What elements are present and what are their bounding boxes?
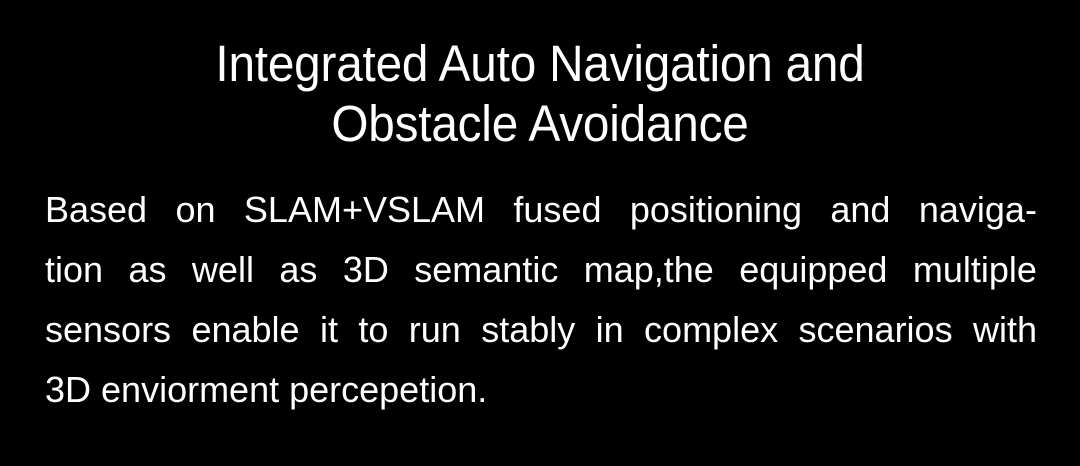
body-word: on <box>175 180 215 240</box>
body-word: Based <box>45 180 147 240</box>
body-word: enable <box>191 300 299 360</box>
body-word: scenarios <box>799 300 953 360</box>
body-word: with <box>973 300 1037 360</box>
body-word: positioning <box>630 180 802 240</box>
body-word: tion <box>45 240 103 300</box>
body-line-3: sensors enable it to run stably in compl… <box>45 300 1037 360</box>
body-line-1: Based on SLAM+VSLAM fused positioning an… <box>45 180 1037 240</box>
body-word: map,the <box>584 240 714 300</box>
title-line-1: Integrated Auto Navigation and <box>35 34 1045 94</box>
body-word: multiple <box>913 240 1037 300</box>
body-word: to <box>358 300 388 360</box>
body-word: and <box>830 180 890 240</box>
slide-canvas: Integrated Auto Navigation and Obstacle … <box>0 0 1080 466</box>
page-title: Integrated Auto Navigation and Obstacle … <box>0 34 1080 154</box>
body-word: complex <box>644 300 778 360</box>
body-word: as <box>279 240 317 300</box>
body-word: in <box>596 300 624 360</box>
body-line-4: 3D enviorment percepetion. <box>45 360 1037 420</box>
body-word: 3D <box>343 240 389 300</box>
body-word: naviga- <box>919 180 1037 240</box>
body-word: fused <box>513 180 601 240</box>
title-line-2: Obstacle Avoidance <box>35 94 1045 154</box>
body-word: as <box>128 240 166 300</box>
body-word: it <box>320 300 338 360</box>
body-word: equipped <box>739 240 887 300</box>
body-word: sensors <box>45 300 171 360</box>
body-line-2: tion as well as 3D semantic map,the equi… <box>45 240 1037 300</box>
body-word: SLAM+VSLAM <box>244 180 485 240</box>
body-word: stably <box>481 300 575 360</box>
body-word: well <box>192 240 254 300</box>
body-word: run <box>409 300 461 360</box>
body-word: semantic <box>414 240 558 300</box>
body-paragraph: Based on SLAM+VSLAM fused positioning an… <box>45 180 1037 420</box>
